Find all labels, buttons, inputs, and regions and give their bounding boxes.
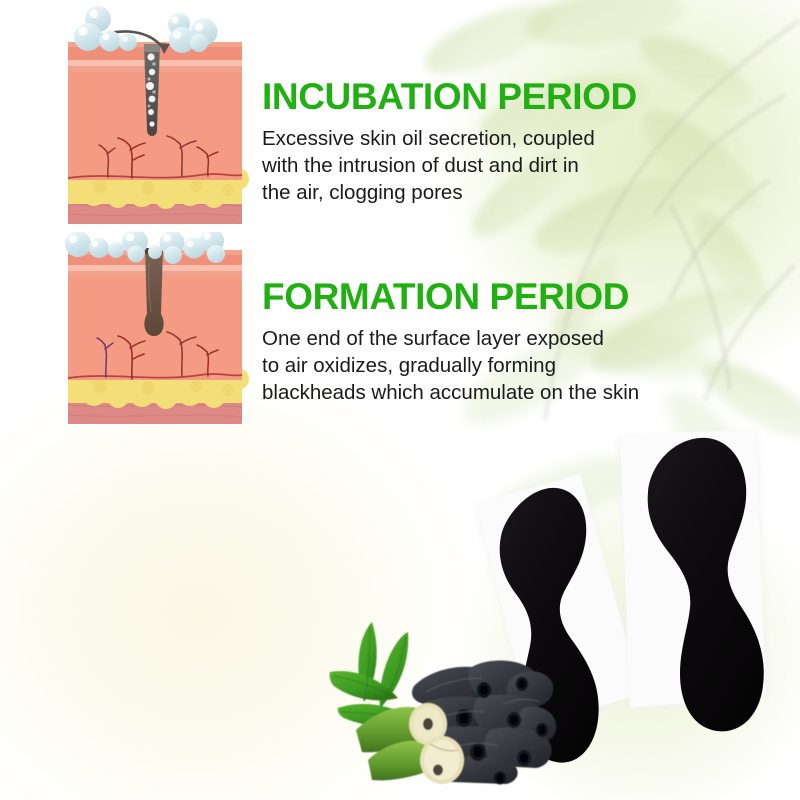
skin-cross-section-1 (68, 42, 249, 224)
infographic-canvas: INCUBATION PERIOD Excessive skin oil sec… (0, 0, 800, 800)
blackhead-plug (144, 248, 163, 336)
incubation-heading: INCUBATION PERIOD (262, 78, 637, 115)
formation-heading: FORMATION PERIOD (262, 278, 629, 315)
formation-body: One end of the surface layer exposed to … (262, 325, 692, 406)
skin-cross-section-2 (68, 248, 249, 424)
incubation-diagram (60, 2, 250, 228)
incubation-body: Excessive skin oil secretion, coupled wi… (262, 125, 662, 206)
formation-diagram (60, 232, 250, 430)
bamboo-charcoal-photo (318, 612, 558, 798)
